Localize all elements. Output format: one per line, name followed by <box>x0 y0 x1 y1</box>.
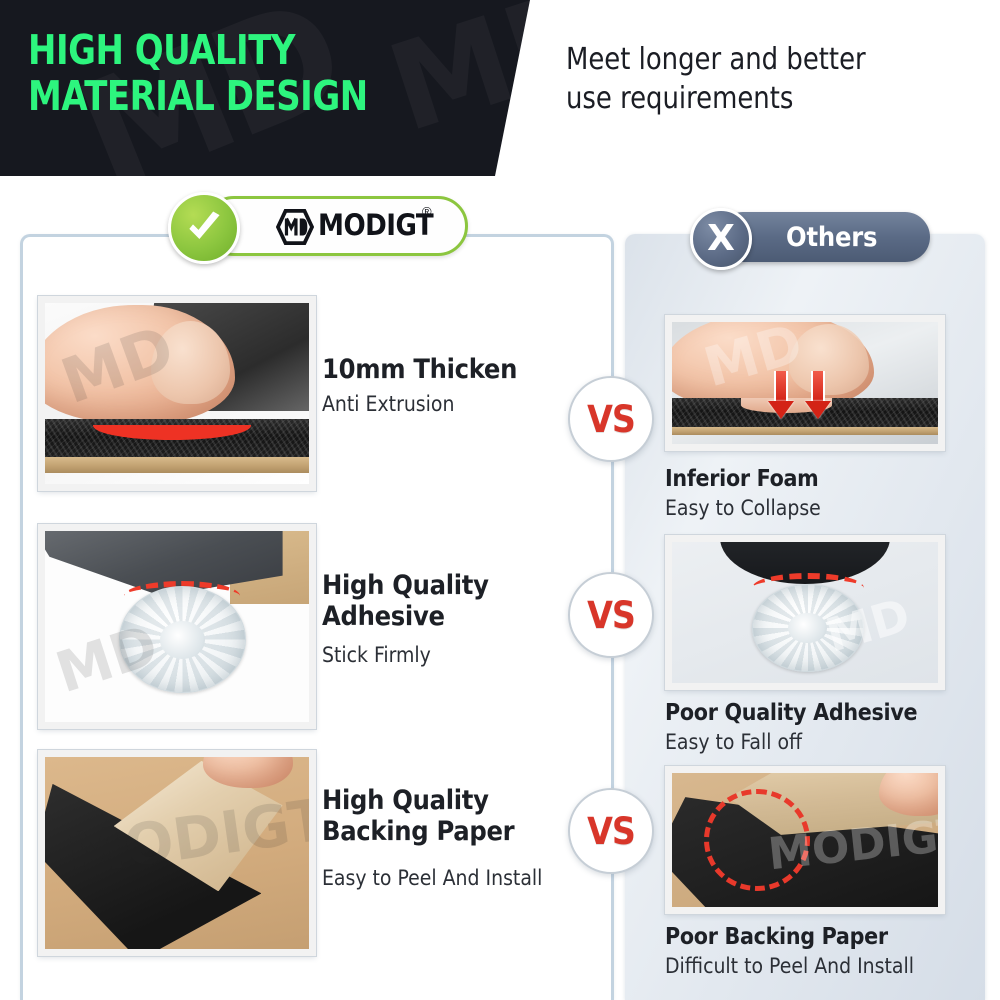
page-subtitle-line1: Meet longer and better <box>566 40 969 79</box>
good-title-row-3-line1: High Quality <box>322 786 582 817</box>
down-arrow-icon-2 <box>805 371 831 419</box>
good-subtitle-row-2: Stick Firmly <box>322 643 572 668</box>
bad-subtitle-row-3: Difficult to Peel And Install <box>665 954 914 978</box>
good-title-row-3-line2: Backing Paper <box>322 817 582 848</box>
vs-label-row-1: VS <box>587 398 635 441</box>
page-subtitle-line2: use requirements <box>566 79 969 118</box>
good-title-row-2: High Quality Adhesive <box>322 571 572 633</box>
comparison-stage: MODIGT ® X Others MD 10mm Thicken Anti E… <box>0 176 1000 1000</box>
vs-label-row-2: VS <box>587 594 635 637</box>
good-photo-row-2: MD <box>38 524 316 729</box>
good-photo-row-1: MD <box>38 296 316 491</box>
header-banner: MD MD HIGH QUALITY MATERIAL DESIGN Meet … <box>0 0 1000 176</box>
adhesive-bottle-cap-2 <box>752 584 864 671</box>
vs-label-row-3: VS <box>587 810 635 853</box>
good-photo-row-3: MODIGT <box>38 750 316 956</box>
bad-title-row-2: Poor Quality Adhesive <box>665 700 917 726</box>
good-subtitle-row-3: Easy to Peel And Install <box>322 866 582 891</box>
bad-subtitle-row-1: Easy to Collapse <box>665 496 821 520</box>
bad-subtitle-row-2: Easy to Fall off <box>665 730 802 754</box>
good-title-row-2-line2: Adhesive <box>322 602 572 633</box>
bad-title-row-1: Inferior Foam <box>665 466 818 492</box>
down-arrow-icon-1 <box>768 371 794 419</box>
vs-badge-row-2: VS <box>568 572 654 658</box>
page-title: HIGH QUALITY MATERIAL DESIGN <box>28 28 470 120</box>
brand-badge: MODIGT ® <box>168 192 468 260</box>
others-label: Others <box>786 222 877 253</box>
bad-photo-row-2: MD <box>665 535 945 690</box>
page-subtitle: Meet longer and better use requirements <box>566 40 969 118</box>
good-subtitle-row-1: Anti Extrusion <box>322 392 572 417</box>
check-icon <box>168 192 240 264</box>
vs-badge-row-1: VS <box>568 376 654 462</box>
others-badge: X Others <box>690 208 930 266</box>
page-title-line1: HIGH QUALITY <box>28 28 470 74</box>
vs-badge-row-3: VS <box>568 788 654 874</box>
registered-mark-icon: ® <box>422 204 432 219</box>
red-dashed-circle-icon <box>704 789 810 891</box>
bad-photo-row-1: MD <box>665 315 945 451</box>
good-title-row-1-line1: 10mm Thicken <box>322 355 572 386</box>
good-title-row-1: 10mm Thicken <box>322 355 572 386</box>
bad-photo-row-3: MODIGT <box>665 766 945 914</box>
x-icon: X <box>690 208 752 270</box>
bad-title-row-3: Poor Backing Paper <box>665 924 888 950</box>
page-title-line2: MATERIAL DESIGN <box>28 74 470 120</box>
brand-name: MODIGT <box>318 208 433 242</box>
adhesive-bottle-cap <box>119 586 246 693</box>
good-title-row-2-line1: High Quality <box>322 571 572 602</box>
md-logo-mark-icon <box>276 209 314 245</box>
good-title-row-3: High Quality Backing Paper <box>322 786 582 848</box>
